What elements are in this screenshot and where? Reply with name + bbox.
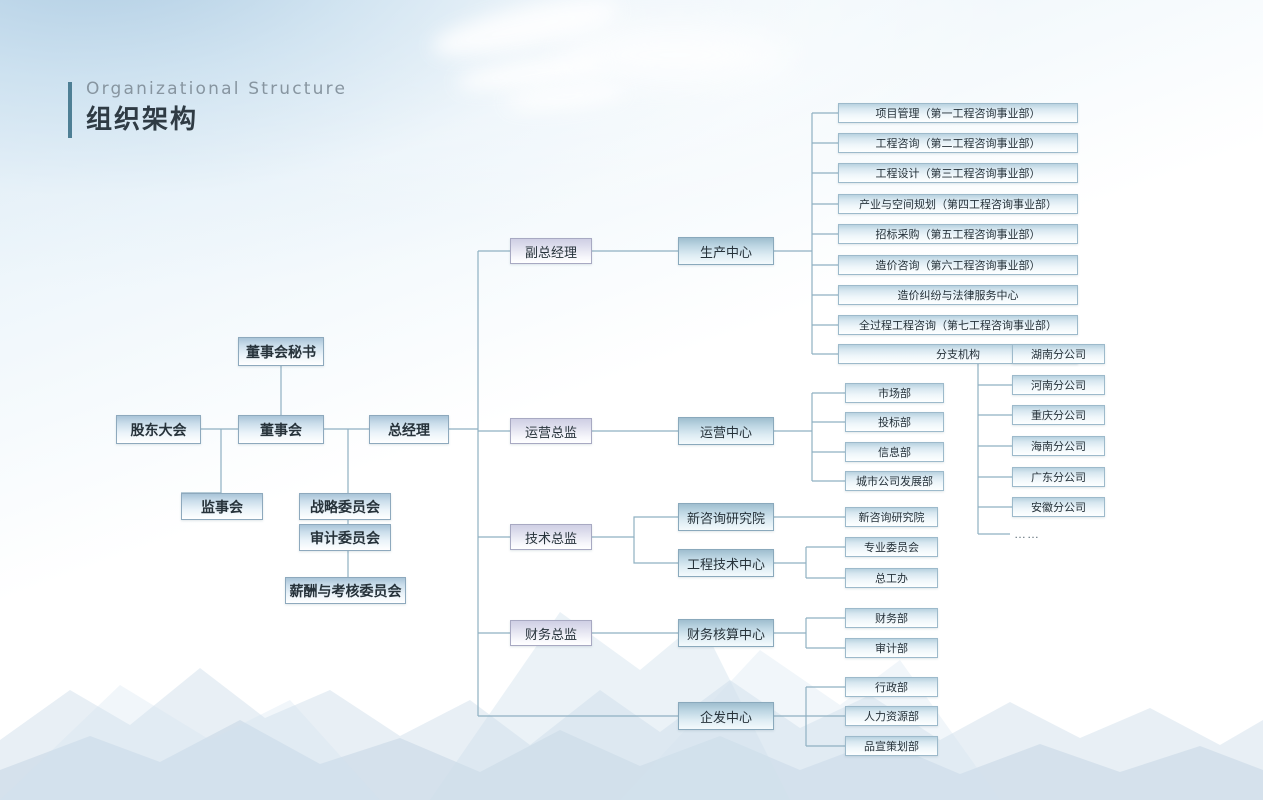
- node-operations-department-label: 信息部: [878, 444, 911, 460]
- node-research-institute[interactable]: 新咨询研究院: [678, 503, 774, 531]
- node-production-department[interactable]: 产业与空间规划（第四工程咨询事业部）: [838, 194, 1078, 214]
- node-operations-department[interactable]: 信息部: [845, 442, 944, 462]
- node-enterprise-department[interactable]: 品宣策划部: [845, 736, 938, 756]
- node-branch-company[interactable]: 湖南分公司: [1012, 344, 1105, 364]
- node-branch-company-label: 重庆分公司: [1031, 407, 1086, 423]
- node-production-center[interactable]: 生产中心: [678, 237, 774, 265]
- node-enterprise-department[interactable]: 行政部: [845, 677, 938, 697]
- node-branch-company-label: 湖南分公司: [1031, 346, 1086, 362]
- node-branch-company[interactable]: 河南分公司: [1012, 375, 1105, 395]
- node-enterprise-department-label: 行政部: [875, 679, 908, 695]
- node-production-department[interactable]: 造价咨询（第六工程咨询事业部）: [838, 255, 1078, 275]
- node-operations-department[interactable]: 投标部: [845, 412, 944, 432]
- node-board-of-directors[interactable]: 董事会: [238, 415, 324, 444]
- node-production-department-label: 造价咨询（第六工程咨询事业部）: [876, 257, 1041, 273]
- node-production-department[interactable]: 工程咨询（第二工程咨询事业部）: [838, 133, 1078, 153]
- node-branch-company[interactable]: 安徽分公司: [1012, 497, 1105, 517]
- node-branch-company[interactable]: 重庆分公司: [1012, 405, 1105, 425]
- node-engineering-department[interactable]: 总工办: [845, 568, 938, 588]
- node-engineering-department-label: 专业委员会: [864, 539, 919, 555]
- node-technical-director[interactable]: 技术总监: [510, 524, 592, 550]
- node-production-department[interactable]: 项目管理（第一工程咨询事业部）: [838, 103, 1078, 123]
- node-operations-center[interactable]: 运营中心: [678, 417, 774, 445]
- node-engineering-department-label: 总工办: [875, 570, 908, 586]
- node-production-department-label: 工程咨询（第二工程咨询事业部）: [876, 135, 1041, 151]
- node-enterprise-department-label: 品宣策划部: [864, 738, 919, 754]
- node-finance-department[interactable]: 审计部: [845, 638, 938, 658]
- node-branch-company[interactable]: 广东分公司: [1012, 467, 1105, 487]
- node-finance-director[interactable]: 财务总监: [510, 620, 592, 646]
- node-operations-department-label: 城市公司发展部: [856, 473, 933, 489]
- node-production-department-label: 工程设计（第三工程咨询事业部）: [876, 165, 1041, 181]
- node-audit-committee[interactable]: 审计委员会: [299, 524, 391, 551]
- node-general-manager[interactable]: 总经理: [369, 415, 449, 444]
- node-production-department[interactable]: 全过程工程咨询（第七工程咨询事业部）: [838, 315, 1078, 335]
- node-enterprise-department-label: 人力资源部: [864, 708, 919, 724]
- node-finance-department-label: 审计部: [875, 640, 908, 656]
- node-production-department-label: 产业与空间规划（第四工程咨询事业部）: [859, 196, 1057, 212]
- node-branch-company[interactable]: 海南分公司: [1012, 436, 1105, 456]
- node-engineering-department[interactable]: 专业委员会: [845, 537, 938, 557]
- node-finance-department[interactable]: 财务部: [845, 608, 938, 628]
- node-production-department[interactable]: 工程设计（第三工程咨询事业部）: [838, 163, 1078, 183]
- node-production-department[interactable]: 招标采购（第五工程咨询事业部）: [838, 224, 1078, 244]
- node-research-department-label: 新咨询研究院: [859, 509, 925, 525]
- node-operations-department[interactable]: 市场部: [845, 383, 944, 403]
- node-operations-department-label: 投标部: [878, 414, 911, 430]
- node-production-department-label: 造价纠纷与法律服务中心: [898, 287, 1019, 303]
- node-production-department[interactable]: 造价纠纷与法律服务中心: [838, 285, 1078, 305]
- node-board-secretary[interactable]: 董事会秘书: [238, 337, 324, 366]
- node-branch-company-label: 安徽分公司: [1031, 499, 1086, 515]
- node-production-department-label: 项目管理（第一工程咨询事业部）: [876, 105, 1041, 121]
- node-deputy-general-manager[interactable]: 副总经理: [510, 238, 592, 264]
- node-shareholders-meeting[interactable]: 股东大会: [116, 415, 201, 444]
- node-supervisory-board[interactable]: 监事会: [181, 493, 263, 520]
- node-finance-accounting-center[interactable]: 财务核算中心: [678, 619, 774, 647]
- node-branch-company-label: 海南分公司: [1031, 438, 1086, 454]
- node-branch-company-label: 广东分公司: [1031, 469, 1086, 485]
- node-enterprise-development-center[interactable]: 企发中心: [678, 702, 774, 730]
- node-production-department-label: 招标采购（第五工程咨询事业部）: [876, 226, 1041, 242]
- node-operations-director[interactable]: 运营总监: [510, 418, 592, 444]
- node-engineering-technology-center[interactable]: 工程技术中心: [678, 549, 774, 577]
- node-strategy-committee[interactable]: 战略委员会: [299, 493, 391, 520]
- node-branch-company-label: 河南分公司: [1031, 377, 1086, 393]
- node-production-department-label: 分支机构: [936, 346, 980, 362]
- node-operations-department-label: 市场部: [878, 385, 911, 401]
- node-enterprise-department[interactable]: 人力资源部: [845, 706, 938, 726]
- node-research-department[interactable]: 新咨询研究院: [845, 507, 938, 527]
- node-operations-department[interactable]: 城市公司发展部: [845, 471, 944, 491]
- node-compensation-committee[interactable]: 薪酬与考核委员会: [285, 577, 406, 604]
- node-production-department-label: 全过程工程咨询（第七工程咨询事业部）: [859, 317, 1057, 333]
- organizational-chart-slide: Organizational Structure 组织架构: [0, 0, 1263, 800]
- org-chart: 董事会秘书 股东大会 董事会 总经理 监事会 战略委员会 审计委员会 薪酬与考核…: [0, 0, 1263, 800]
- node-finance-department-label: 财务部: [875, 610, 908, 626]
- branches-more-ellipsis: ……: [1014, 527, 1040, 541]
